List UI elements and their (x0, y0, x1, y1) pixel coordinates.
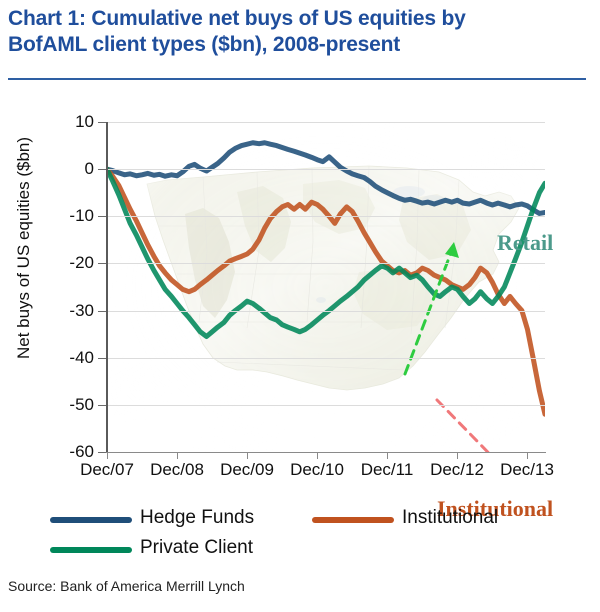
legend-label-private-client: Private Client (140, 537, 253, 559)
chart-legend: Hedge Funds Institutional Private Client (0, 503, 600, 563)
retail-annotation-label: Retail (497, 230, 553, 256)
x-axis-label-dec11: Dec/11 (354, 460, 420, 480)
page-title: Chart 1: Cumulative net buys of US equit… (8, 6, 592, 58)
y-axis-line (106, 122, 108, 453)
gridline--30 (107, 311, 545, 312)
y-axis-label--60: -60 (34, 442, 94, 462)
y-axis-label--30: -30 (34, 301, 94, 321)
source-note: Source: Bank of America Merrill Lynch (8, 578, 245, 594)
chart-page: Chart 1: Cumulative net buys of US equit… (0, 0, 600, 612)
legend-swatch-private-client (50, 547, 132, 553)
gridline--20 (107, 263, 545, 264)
x-axis-label-dec12: Dec/12 (424, 460, 490, 480)
x-tick-6 (527, 452, 528, 459)
retail-trend-arrow (405, 242, 459, 374)
x-tick-2 (247, 452, 248, 459)
x-tick-0 (107, 452, 108, 459)
x-tick-1 (177, 452, 178, 459)
chart-area: Net buys of US equities ($bn) (0, 88, 600, 478)
data-series-layer (107, 122, 545, 452)
y-axis-label--10: -10 (34, 206, 94, 226)
gridline--40 (107, 358, 545, 359)
gridline--50 (107, 405, 545, 406)
x-axis-label-dec07: Dec/07 (74, 460, 140, 480)
gridline--10 (107, 216, 545, 217)
legend-label-hedge-funds: Hedge Funds (140, 507, 254, 529)
title-underline (8, 78, 586, 80)
x-axis-label-dec08: Dec/08 (144, 460, 210, 480)
legend-label-institutional: Institutional (402, 507, 498, 529)
x-tick-5 (457, 452, 458, 459)
x-axis-label-dec09: Dec/09 (214, 460, 280, 480)
institutional-trend-arrow (437, 400, 523, 452)
y-axis-label--40: -40 (34, 348, 94, 368)
x-axis-label-dec13: Dec/13 (494, 460, 560, 480)
legend-swatch-hedge-funds (50, 517, 132, 523)
y-axis-label--20: -20 (34, 253, 94, 273)
x-axis-label-dec10: Dec/10 (284, 460, 350, 480)
y-axis-label-0: 0 (34, 159, 94, 179)
y-axis-label-10: 10 (34, 112, 94, 132)
title-block: Chart 1: Cumulative net buys of US equit… (8, 6, 592, 58)
x-tick-4 (387, 452, 388, 459)
gridline-10 (107, 122, 545, 123)
y-axis-label--50: -50 (34, 395, 94, 415)
plot-area (107, 122, 545, 452)
x-axis-line (106, 452, 546, 453)
gridline-0 (107, 169, 545, 170)
series-line-hedge-funds (107, 143, 545, 214)
legend-swatch-institutional (312, 517, 394, 523)
x-tick-3 (317, 452, 318, 459)
y-axis-title: Net buys of US equities ($bn) (14, 98, 34, 398)
